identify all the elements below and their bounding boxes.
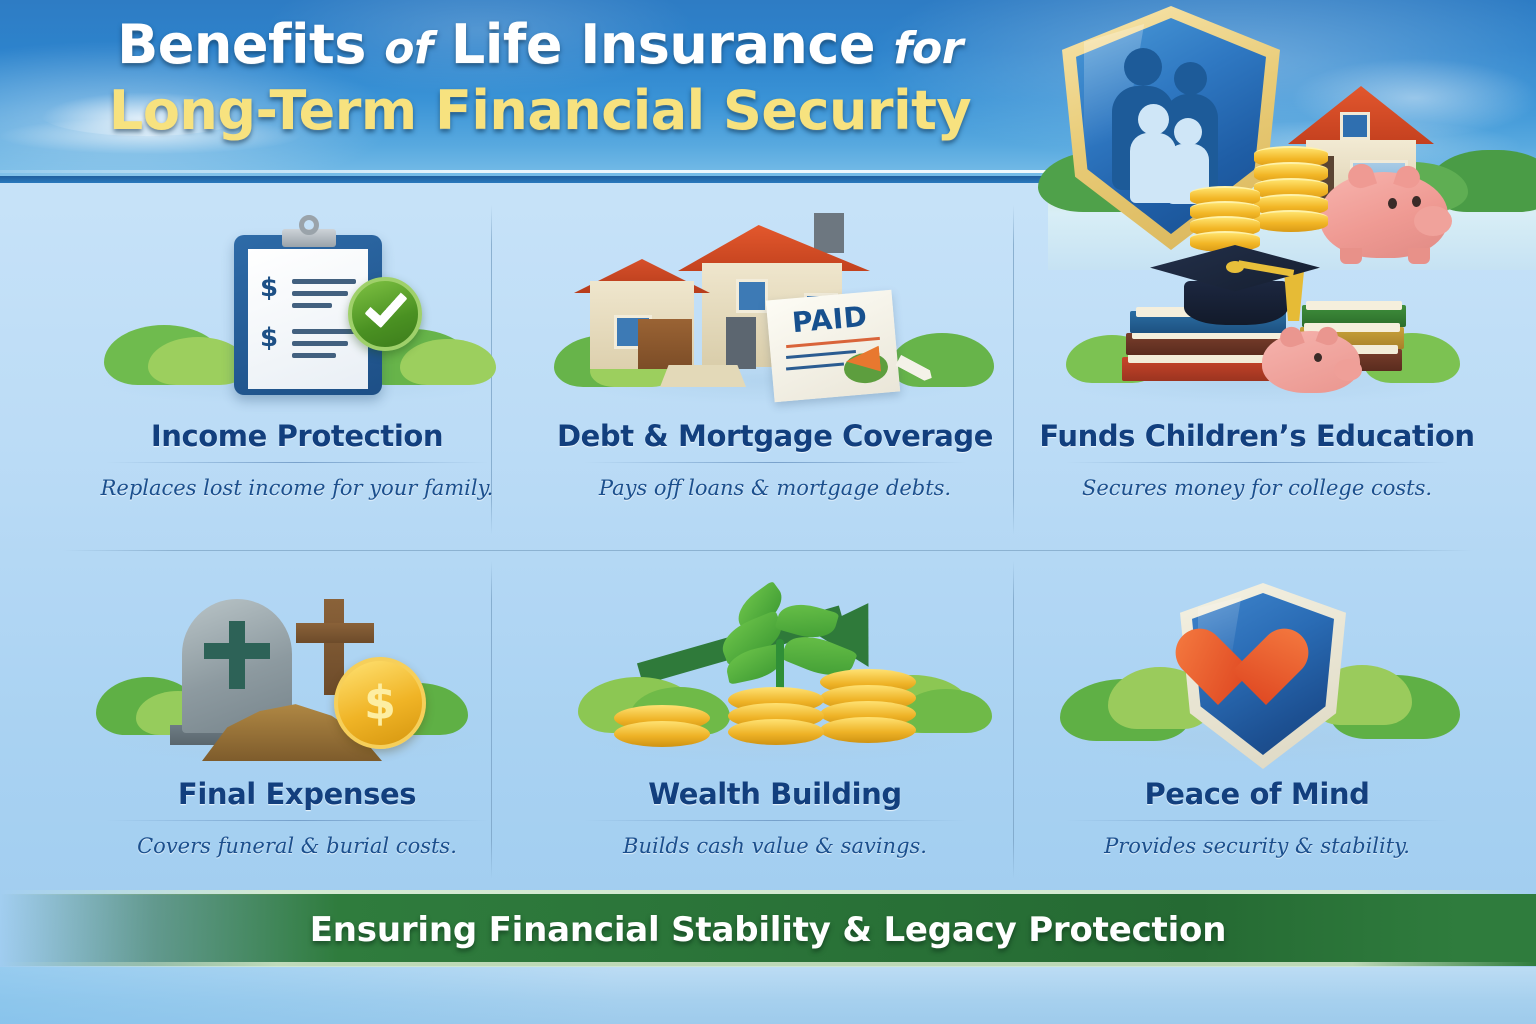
card-description: Covers funeral & burial costs. [52, 834, 542, 858]
title-subline: Long-Term Financial Security [0, 84, 1080, 138]
card-title: Funds Children’s Education [1012, 419, 1502, 453]
paper-line [292, 353, 336, 358]
card-rule [584, 820, 966, 821]
bottom-band-wash [0, 967, 620, 1024]
dollar-sign-icon: $ [260, 273, 278, 303]
piggy-bank-eye [1314, 353, 1322, 362]
page-title: Benefits of Life Insurance for Long-Term… [0, 18, 1080, 138]
family-child-head-icon [1174, 118, 1202, 146]
benefit-card-debt-mortgage-coverage[interactable]: PAID Debt & Mortgage Coverage Pays off l… [530, 207, 1020, 500]
card-rule [1066, 820, 1448, 821]
paper-line [292, 303, 332, 308]
card-rule [1066, 462, 1448, 463]
paper-line [292, 291, 348, 296]
card-description: Provides security & stability. [1012, 834, 1502, 858]
paper-line [292, 341, 348, 346]
card-rule [106, 820, 488, 821]
house-window-icon [736, 279, 768, 313]
footer-banner: Ensuring Financial Stability & Legacy Pr… [0, 894, 1536, 966]
card-description: Pays off loans & mortgage debts. [530, 476, 1020, 500]
paid-stamp-text: PAID [791, 300, 869, 339]
bush-icon [148, 337, 248, 385]
house-paid-document-illustration: PAID [530, 207, 1020, 419]
benefit-card-wealth-building[interactable]: Wealth Building Builds cash value & savi… [530, 565, 1020, 858]
house-garage-door-icon [638, 319, 692, 369]
gravestone-cross-coin-illustration: $ [52, 565, 542, 777]
title-word-for: for [893, 23, 963, 74]
graduation-cap-books-piggybank-illustration [1012, 207, 1502, 419]
paper-line [292, 279, 356, 284]
card-title: Final Expenses [52, 777, 542, 811]
dollar-sign-icon: $ [260, 323, 278, 353]
benefit-card-income-protection[interactable]: $ $ Income Protection Replaces lost inco… [52, 207, 542, 500]
family-child-head-icon [1138, 104, 1169, 135]
footer-text: Ensuring Financial Stability & Legacy Pr… [310, 910, 1226, 950]
graduation-cap-button [1226, 261, 1244, 273]
benefits-grid: $ $ Income Protection Replaces lost inco… [0, 183, 1536, 883]
card-title: Debt & Mortgage Coverage [530, 419, 1020, 453]
clipboard-ring-icon [299, 215, 319, 235]
infographic-poster: Benefits of Life Insurance for Long-Term… [0, 0, 1536, 1024]
house-chimney-icon [814, 213, 844, 253]
card-rule [584, 462, 966, 463]
house-door-icon [726, 317, 756, 369]
family-mother-head-icon [1174, 62, 1207, 95]
clipboard-dollar-checkmark-illustration: $ $ [52, 207, 542, 419]
piggy-bank-snout [1334, 359, 1362, 381]
heart-icon [1218, 631, 1310, 713]
card-description: Builds cash value & savings. [530, 834, 1020, 858]
benefit-card-funds-childrens-education[interactable]: Funds Children’s Education Secures money… [1012, 207, 1502, 500]
wooden-cross-icon [296, 623, 374, 643]
cross-icon [204, 643, 270, 659]
title-word-benefits: Benefits [117, 13, 366, 76]
dollar-sign-icon: $ [338, 661, 422, 745]
card-title: Wealth Building [530, 777, 1020, 811]
card-title: Peace of Mind [1012, 777, 1502, 811]
bush-icon [400, 339, 496, 385]
family-father-head-icon [1124, 48, 1162, 86]
grid-divider-horizontal [62, 550, 1474, 551]
benefit-card-final-expenses[interactable]: $ Final Expenses Covers funeral & burial… [52, 565, 542, 858]
house-path [660, 365, 746, 387]
benefit-card-peace-of-mind[interactable]: Peace of Mind Provides security & stabil… [1012, 565, 1502, 858]
title-word-of: of [384, 23, 432, 74]
title-word-life-insurance: Life Insurance [451, 13, 875, 76]
card-title: Income Protection [52, 419, 542, 453]
card-description: Secures money for college costs. [1012, 476, 1502, 500]
card-rule [106, 462, 488, 463]
gold-coin-icon: $ [334, 657, 426, 749]
book-pages [1306, 301, 1402, 310]
card-description: Replaces lost income for your family. [52, 476, 542, 500]
shield-heart-illustration [1012, 565, 1502, 777]
paper-line [292, 329, 356, 334]
plant-growing-coin-stacks-arrow-illustration [530, 565, 1020, 777]
graduation-tassel-icon [1284, 271, 1304, 321]
house-window-icon [1340, 112, 1370, 140]
